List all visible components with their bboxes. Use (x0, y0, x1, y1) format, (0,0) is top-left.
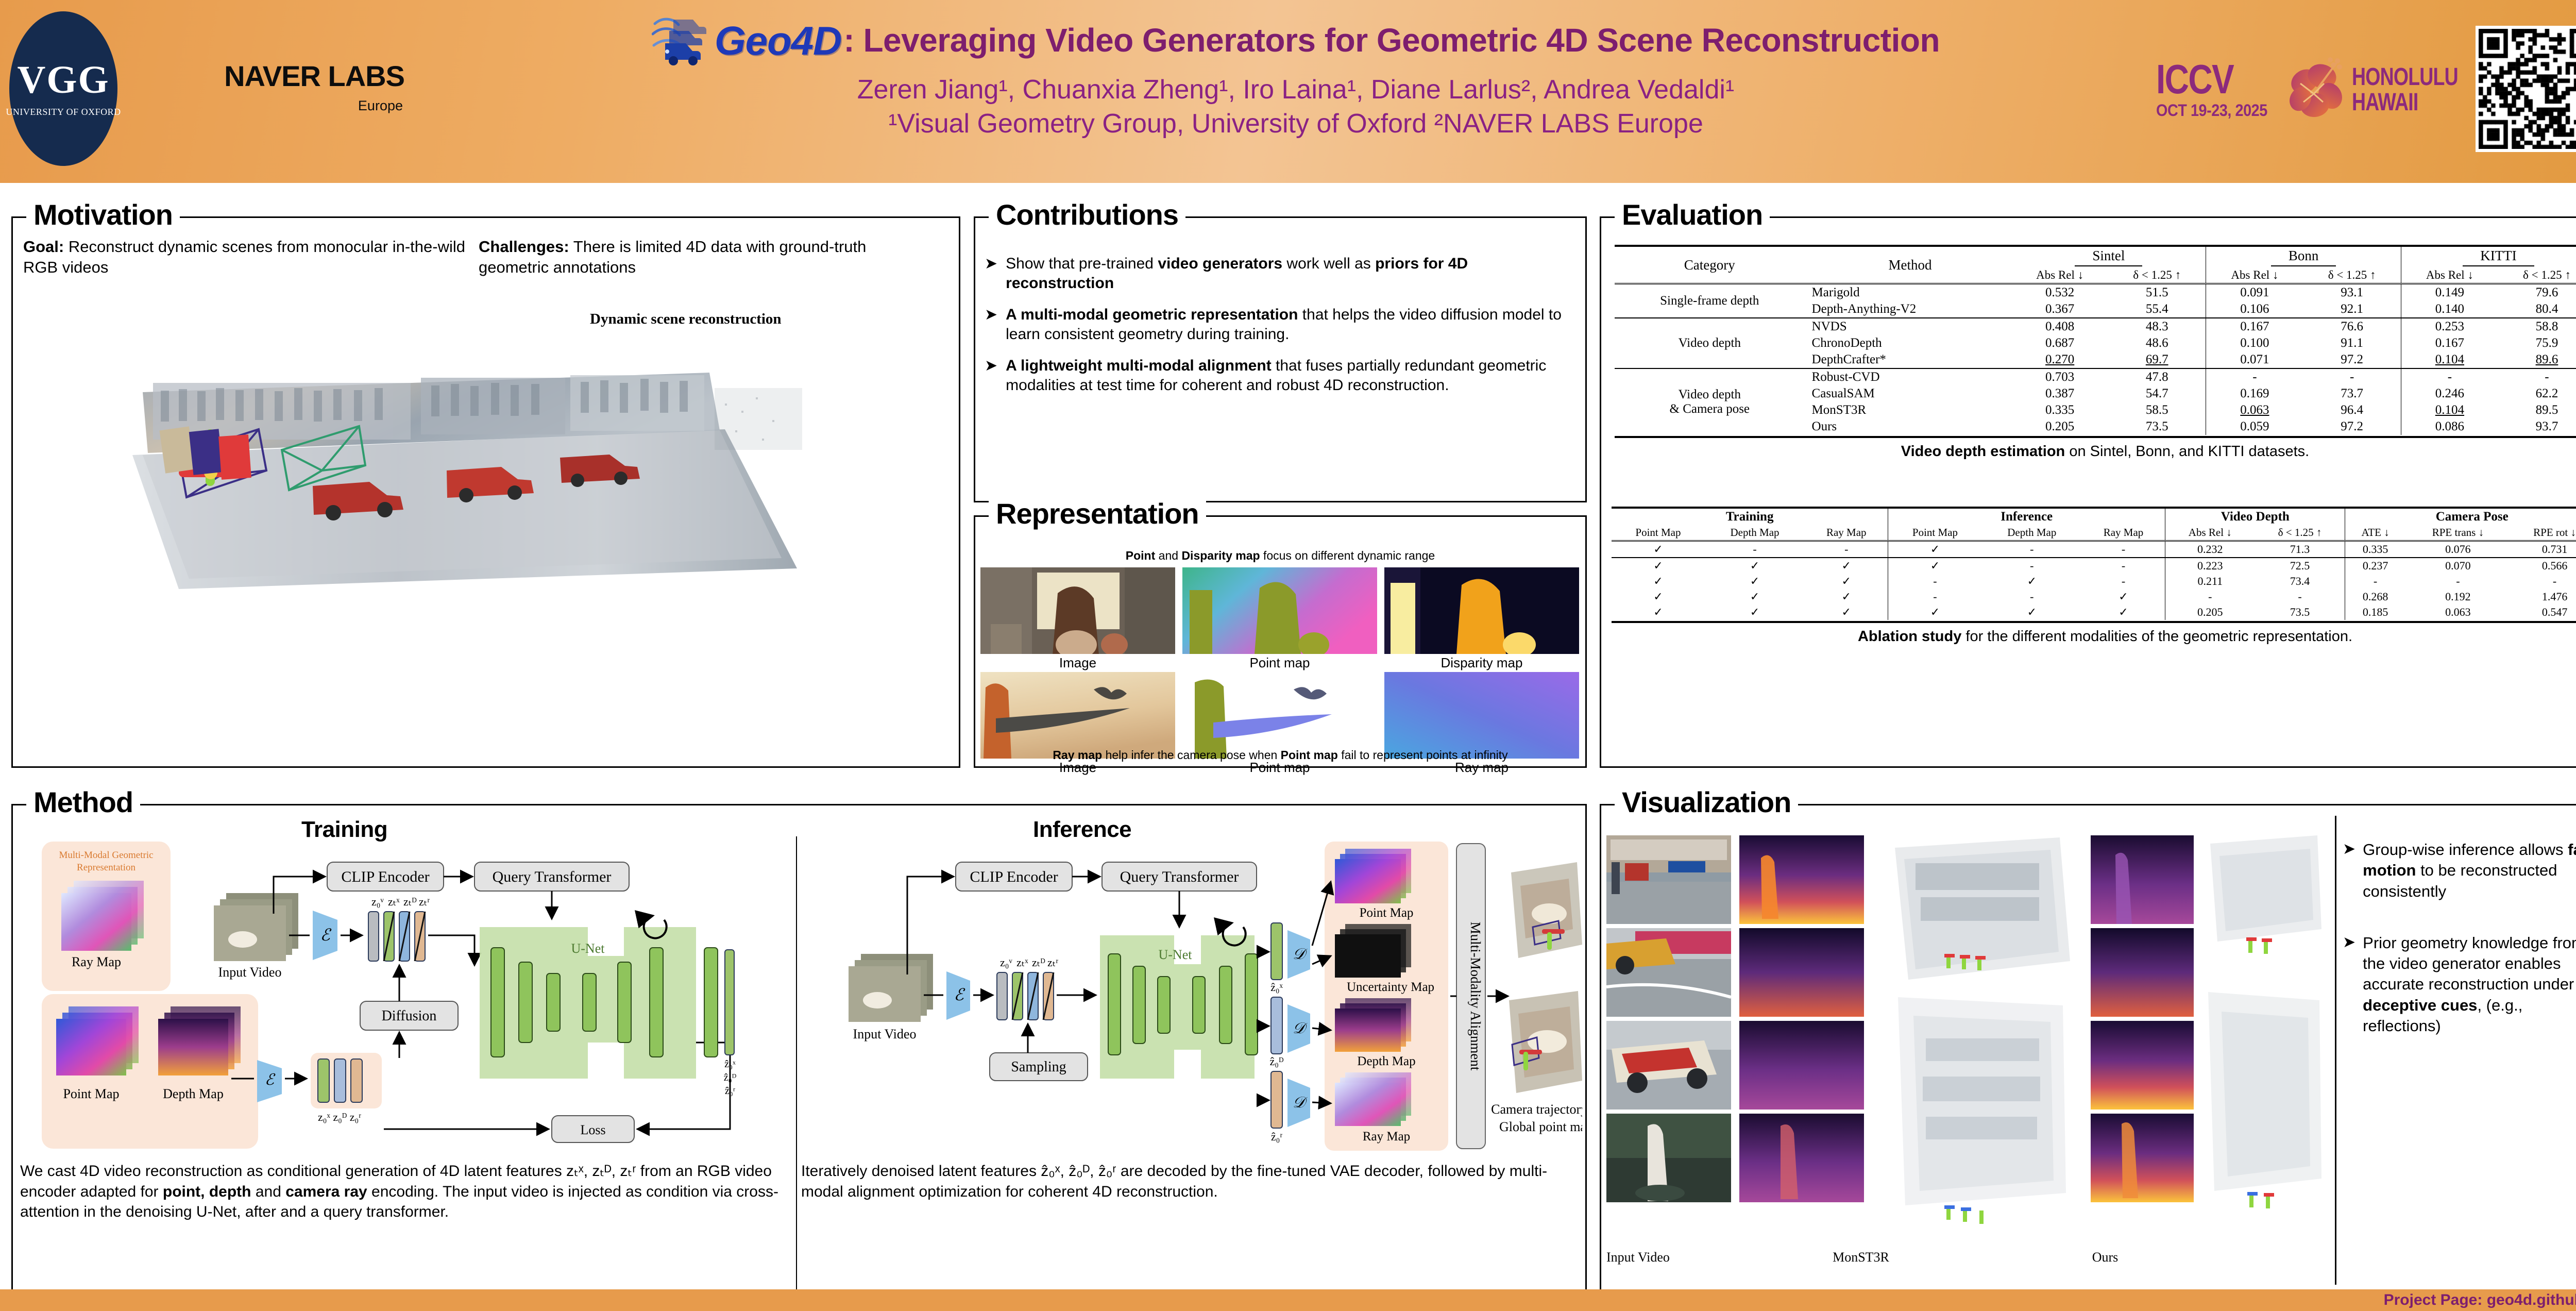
section-title-visualization: Visualization (1615, 788, 1798, 817)
svg-text:z₀ˣ z₀ᴰ z₀ʳ: z₀ˣ z₀ᴰ z₀ʳ (318, 1111, 361, 1123)
contribution-1-bold1: video generators (1158, 255, 1282, 272)
evaluation-table-2-wrap: TrainingInferenceVideo DepthCamera PoseP… (1612, 507, 2576, 645)
svg-text:Camera trajectory &: Camera trajectory & (1491, 1102, 1582, 1117)
rep-label-r1c3: Disparity map (1384, 655, 1579, 671)
motivation-goal-label: Goal: (23, 238, 64, 256)
visualization-note-2: ➤ Prior geometry knowledge from the vide… (2343, 933, 2576, 1036)
vgg-logo: VGG UNIVERSITY OF OXFORD (9, 11, 117, 166)
svg-text:Query Transformer: Query Transformer (1120, 868, 1239, 885)
svg-text:ẑ₀ᴰ: ẑ₀ᴰ (1270, 1055, 1284, 1068)
svg-text:Multi-Modal Geometric: Multi-Modal Geometric (59, 850, 153, 861)
iccv-date: OCT 19-23, 2025 (2156, 101, 2267, 120)
svg-text:Ray Map: Ray Map (1363, 1130, 1410, 1144)
section-title-method: Method (26, 788, 140, 817)
svg-text:CLIP Encoder: CLIP Encoder (341, 868, 429, 885)
rep-caption-top-b2: Disparity map (1181, 549, 1260, 562)
svg-text:Depth Map: Depth Map (1357, 1054, 1415, 1068)
rep-image-point-map-1 (1182, 567, 1377, 654)
section-motivation: Motivation Goal: Reconstruct dynamic sce… (11, 216, 960, 768)
ablation-study-table: TrainingInferenceVideo DepthCamera PoseP… (1612, 507, 2576, 623)
affiliation-list: ¹Visual Geometry Group, University of Ox… (464, 109, 2128, 140)
svg-text:ẑ₀ᴰ: ẑ₀ᴰ (724, 1072, 737, 1083)
svg-text:Ray Map: Ray Map (72, 954, 121, 969)
naver-labs-main: NAVER LABS (191, 62, 438, 91)
method-caption-left-1: We cast 4D video reconstruction as condi… (20, 1163, 574, 1180)
svg-text:Loss: Loss (580, 1122, 605, 1137)
rep-caption-bot-b1: Ray map (1053, 748, 1102, 762)
method-captions: We cast 4D video reconstruction as condi… (20, 1161, 1581, 1222)
representation-caption-bottom: Ray map help infer the camera pose when … (975, 748, 1585, 762)
svg-text:CLIP Encoder: CLIP Encoder (970, 868, 1058, 885)
svg-text:Global point map: Global point map (1499, 1119, 1582, 1134)
method-caption-left-sub: ₜˣ, zₜᴰ, zₜʳ (574, 1163, 636, 1180)
svg-text:Diffusion: Diffusion (382, 1008, 437, 1024)
svg-text:ẑ₀ʳ: ẑ₀ʳ (725, 1085, 736, 1097)
svg-text:ẑ₀ˣ: ẑ₀ˣ (1270, 981, 1283, 994)
motivation-challenges-label: Challenges: (479, 238, 569, 256)
rep-cell-image-2: Point map (1182, 567, 1377, 671)
rep-caption-top-end: focus on different dynamic range (1260, 549, 1435, 562)
svg-text:z₀ᵛ: z₀ᵛ (371, 895, 384, 908)
qr-code[interactable] (2476, 26, 2576, 152)
svg-text:zₜʳ: zₜʳ (1047, 956, 1058, 969)
arrow-bullet-icon: ➤ (985, 305, 997, 345)
svg-text:Representation: Representation (77, 862, 135, 873)
svg-text:Uncertainty Map: Uncertainty Map (1347, 980, 1434, 994)
page-title: : Leveraging Video Generators for Geomet… (843, 23, 1940, 58)
viz-note-1-pre: Group-wise inference allows (2363, 841, 2568, 859)
arrow-bullet-icon: ➤ (2343, 933, 2355, 1036)
vgg-logo-sub: UNIVERSITY OF OXFORD (6, 107, 121, 117)
section-representation: Representation Point and Disparity map f… (974, 515, 1587, 768)
method-pipeline-diagram: Multi-Modal Geometric Representation Ray… (16, 836, 1582, 1156)
video-depth-estimation-table: CategoryMethodSintelBonnKITTIAbs Rel ↓δ … (1615, 245, 2576, 438)
svg-text:Point Map: Point Map (63, 1086, 119, 1101)
eval-caption2-bold: Ablation study (1858, 628, 1961, 645)
author-list: Zeren Jiang¹, Chuanxia Zheng¹, Iro Laina… (464, 75, 2128, 106)
svg-text:zₜᴰ: zₜᴰ (1032, 956, 1045, 969)
rep-image-sky-rgb (980, 672, 1175, 759)
svg-text:Input Video: Input Video (853, 1027, 917, 1041)
method-caption-left-3: and (251, 1183, 286, 1200)
svg-text:z₀ᵛ: z₀ᵛ (1000, 956, 1012, 969)
svg-text:Query Transformer: Query Transformer (493, 868, 612, 885)
rep-caption-bot-end: fail to represent points at infinity (1338, 748, 1508, 762)
contributions-list: ➤ Show that pre-trained video generators… (985, 254, 1577, 407)
rep-caption-top-b1: Point (1126, 549, 1156, 562)
representation-grid: Image Point map (980, 567, 1582, 777)
naver-labs-logo: NAVER LABS Europe (191, 62, 438, 114)
rep-image-ray-map (1384, 672, 1579, 759)
geo4d-brand: Geo4D (715, 21, 841, 61)
rep-image-disparity-map (1384, 567, 1579, 654)
svg-text:U-Net: U-Net (571, 941, 605, 956)
visualization-note-1: ➤ Group-wise inference allows fast motio… (2343, 839, 2576, 902)
evaluation-table-1-caption: Video depth estimation on Sintel, Bonn, … (1615, 443, 2576, 460)
eval-caption1-rest: on Sintel, Bonn, and KITTI datasets. (2065, 443, 2309, 460)
motivation-challenges: Challenges: There is limited 4D data wit… (479, 237, 922, 278)
svg-text:U-Net: U-Net (1159, 947, 1193, 962)
arrow-bullet-icon: ➤ (985, 356, 997, 396)
contribution-item-1: ➤ Show that pre-trained video generators… (985, 254, 1577, 294)
arrow-bullet-icon: ➤ (2343, 839, 2355, 902)
viz-label-input-video: Input Video (1606, 1250, 1740, 1265)
section-visualization: Visualization (1600, 804, 2576, 1299)
svg-text:zₜˣ: zₜˣ (388, 895, 400, 908)
rep-label-r1c1: Image (980, 655, 1175, 671)
svg-text:Point Map: Point Map (1360, 906, 1414, 920)
project-page-link[interactable]: Project Page: geo4d.github.io (2384, 1291, 2576, 1309)
eval-caption1-bold: Video depth estimation (1901, 443, 2065, 460)
svg-text:Input Video: Input Video (218, 965, 282, 980)
svg-text:zₜʳ: zₜʳ (419, 895, 430, 908)
iccv-logo: ICCV OCT 19-23, 2025 (2156, 28, 2455, 152)
contribution-item-3: ➤ A lightweight multi-modal alignment th… (985, 356, 1577, 396)
section-method: Method Training Inference (11, 804, 1587, 1299)
eval-caption2-rest: for the different modalities of the geom… (1961, 628, 2352, 645)
svg-text:Sampling: Sampling (1011, 1059, 1066, 1075)
method-caption-training: We cast 4D video reconstruction as condi… (20, 1161, 783, 1222)
rep-image-sintel-rgb (980, 567, 1175, 654)
rep-caption-bot-b2: Point map (1281, 748, 1338, 762)
section-evaluation: Evaluation CategoryMethodSintelBonnKITTI… (1600, 216, 2576, 768)
contribution-3-bold1: A lightweight multi-modal alignment (1006, 357, 1272, 374)
svg-text:Multi-Modality Alignment: Multi-Modality Alignment (1468, 922, 1483, 1071)
method-caption-left-b2: camera ray (285, 1183, 367, 1200)
viz-label-ours: Ours (1981, 1250, 2229, 1265)
poster-header: VGG UNIVERSITY OF OXFORD NAVER LABS Euro… (0, 0, 2576, 183)
iccv-state: HAWAII (2352, 90, 2458, 115)
vgg-logo-main: VGG (17, 60, 109, 99)
visualization-results-grid (1606, 832, 2323, 1260)
contribution-item-2: ➤ A multi-modal geometric representation… (985, 305, 1577, 345)
method-caption-inference: Iteratively denoised latent features ẑ₀ˣ… (801, 1161, 1564, 1222)
visualization-column-labels: Input Video MonST3R Ours (1606, 1250, 2323, 1265)
poster-root: VGG UNIVERSITY OF OXFORD NAVER LABS Euro… (0, 0, 2576, 1311)
rep-caption-top-mid: and (1155, 549, 1181, 562)
svg-text:zₜˣ: zₜˣ (1016, 956, 1028, 969)
rep-cell-image-1: Image (980, 567, 1175, 671)
contribution-1-mid: work well as (1282, 255, 1375, 272)
hibiscus-flower-icon (2285, 52, 2347, 129)
poster-footer: Project Page: geo4d.github.io (0, 1289, 2576, 1311)
svg-text:ẑ₀ˣ: ẑ₀ˣ (724, 1058, 736, 1070)
svg-text:ℰ: ℰ (265, 1071, 276, 1088)
section-title-evaluation: Evaluation (1615, 200, 1770, 229)
viz-label-monst3r: MonST3R (1740, 1250, 1981, 1265)
contribution-2-bold1: A multi-modal geometric representation (1006, 306, 1298, 323)
method-caption-left-b1: point, depth (163, 1183, 251, 1200)
rep-cell-image-3: Disparity map (1384, 567, 1579, 671)
iccv-city: HONOLULU (2352, 65, 2458, 90)
dynamic-scene-pointcloud-image (24, 300, 952, 589)
rep-caption-bot-mid: help infer the camera pose when (1102, 748, 1280, 762)
section-title-representation: Representation (989, 499, 1206, 528)
visualization-notes: ➤ Group-wise inference allows fast motio… (2335, 816, 2576, 1285)
representation-caption-top: Point and Disparity map focus on differe… (975, 549, 1585, 563)
arrow-bullet-icon: ➤ (985, 254, 997, 294)
svg-text:zₜᴰ: zₜᴰ (403, 895, 417, 908)
evaluation-table-2-caption: Ablation study for the different modalit… (1612, 628, 2576, 645)
section-title-motivation: Motivation (26, 200, 180, 229)
svg-text:Depth Map: Depth Map (163, 1086, 224, 1101)
rep-label-r1c2: Point map (1182, 655, 1377, 671)
naver-labs-sub: Europe (191, 98, 438, 114)
viz-note-2-bold: deceptive cues (2363, 996, 2477, 1014)
car-motion-icon (652, 13, 713, 68)
section-title-contributions: Contributions (989, 200, 1185, 229)
rep-image-point-map-2 (1182, 672, 1377, 759)
title-block: Geo4D : Leveraging Video Generators for … (464, 13, 2128, 140)
evaluation-table-1-wrap: CategoryMethodSintelBonnKITTIAbs Rel ↓δ … (1615, 245, 2576, 460)
iccv-name: ICCV (2156, 61, 2258, 98)
section-contributions: Contributions ➤ Show that pre-trained vi… (974, 216, 1587, 502)
motivation-goal-text: Reconstruct dynamic scenes from monocula… (23, 238, 465, 276)
svg-text:ẑ₀ʳ: ẑ₀ʳ (1271, 1130, 1282, 1143)
motivation-goal: Goal: Reconstruct dynamic scenes from mo… (23, 237, 466, 278)
viz-note-2-pre: Prior geometry knowledge from the video … (2363, 934, 2576, 994)
contribution-1-pre: Show that pre-trained (1006, 255, 1158, 272)
